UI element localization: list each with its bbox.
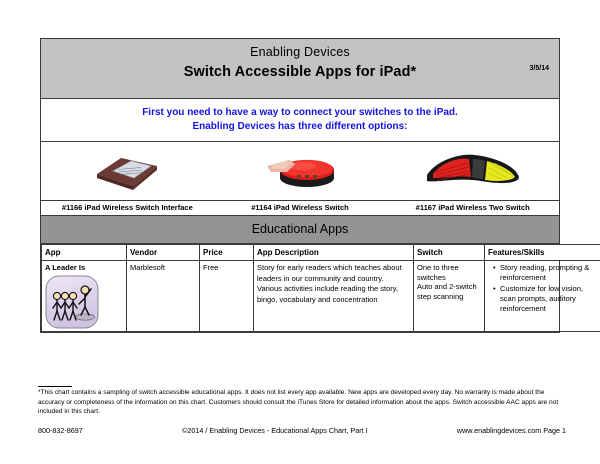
column-header-price: Price <box>200 245 254 261</box>
document-page: Enabling Devices 3/5/14 Switch Accessibl… <box>0 0 600 464</box>
ipad-wireless-switch-image <box>257 150 343 192</box>
footer-copyright: ©2014 / Enabling Devices - Educational A… <box>182 426 368 435</box>
page-footer: 800-832-8697 ©2014 / Enabling Devices - … <box>38 426 566 435</box>
document-date: 3/5/14 <box>530 65 549 72</box>
apps-table: App Vendor Price App Description Switch … <box>41 244 600 332</box>
column-header-features: Features/Skills <box>485 245 600 261</box>
ipad-wireless-two-switch-image <box>423 151 523 191</box>
table-header-row: App Vendor Price App Description Switch … <box>42 245 600 261</box>
cell-features: Story reading, prompting & reinforcement… <box>485 261 600 332</box>
footnote-text: *This chart contains a sampling of switc… <box>38 388 566 417</box>
product-cell-1 <box>41 142 214 200</box>
switch-line: step scanning <box>417 292 481 302</box>
product-cell-2 <box>214 142 387 200</box>
document-title: Switch Accessible Apps for iPad* <box>41 64 559 80</box>
product-caption-row: #1166 iPad Wireless Switch Interface #11… <box>41 201 559 216</box>
cell-switch: One to three switches Auto and 2-switch … <box>414 261 485 332</box>
footer-phone: 800-832-8697 <box>38 426 83 435</box>
switch-line: Auto and 2-switch <box>417 282 481 292</box>
feature-item: Story reading, prompting & reinforcement <box>495 263 598 283</box>
product-image-strip <box>41 142 559 201</box>
intro-block: First you need to have a way to connect … <box>41 99 559 142</box>
intro-line-2: Enabling Devices has three different opt… <box>45 120 555 134</box>
features-list: Story reading, prompting & reinforcement… <box>488 263 598 314</box>
table-row: A Leader Is <box>42 261 600 332</box>
footnote-separator-rule <box>38 386 72 387</box>
section-title-educational-apps: Educational Apps <box>41 216 559 244</box>
cell-app: A Leader Is <box>42 261 127 332</box>
cell-price: Free <box>200 261 254 332</box>
document-main-table: Enabling Devices 3/5/14 Switch Accessibl… <box>40 38 560 333</box>
organization-name: Enabling Devices <box>41 39 559 59</box>
masthead: Enabling Devices 3/5/14 Switch Accessibl… <box>41 39 559 99</box>
footer-website-page: www.enablingdevices.com Page 1 <box>457 426 566 435</box>
switch-line: One to three <box>417 263 481 273</box>
app-name: A Leader Is <box>45 263 123 272</box>
column-header-vendor: Vendor <box>127 245 200 261</box>
switch-line: switches <box>417 273 481 283</box>
product-caption-1: #1166 iPad Wireless Switch Interface <box>41 201 214 215</box>
column-header-app: App <box>42 245 127 261</box>
product-caption-2: #1164 iPad Wireless Switch <box>214 201 387 215</box>
feature-item: Customize for low vision, scan prompts, … <box>495 284 598 314</box>
product-caption-3: #1167 iPad Wireless Two Switch <box>386 201 559 215</box>
intro-line-1: First you need to have a way to connect … <box>45 106 555 120</box>
column-header-description: App Description <box>254 245 414 261</box>
a-leader-is-app-icon <box>45 275 99 329</box>
product-cell-3 <box>386 142 559 200</box>
cell-vendor: Marblesoft <box>127 261 200 332</box>
ipad-wireless-switch-interface-image <box>91 150 163 192</box>
column-header-switch: Switch <box>414 245 485 261</box>
cell-description: Story for early readers which teaches ab… <box>254 261 414 332</box>
